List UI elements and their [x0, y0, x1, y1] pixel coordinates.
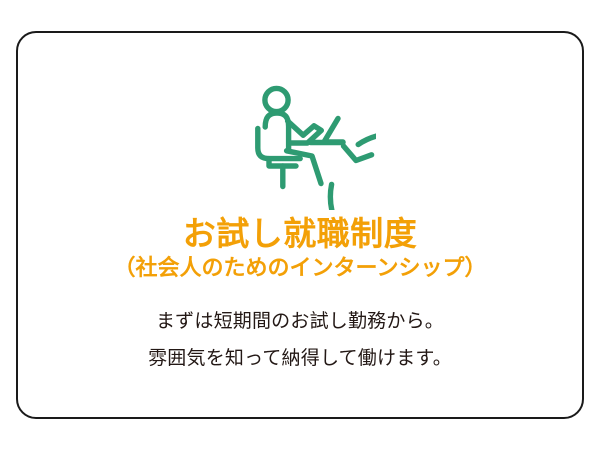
description-line-2: 雰囲気を知って納得して働けます。 [18, 340, 582, 377]
page-title: お試し就職制度 [18, 216, 582, 253]
page-subtitle: （社会人のためのインターンシップ） [18, 255, 582, 281]
person-arm-shape [288, 121, 322, 143]
person-torso-shape [265, 113, 288, 151]
arrow-head-shape [344, 146, 372, 161]
seated-person-working-in-circular-arrow-icon [224, 58, 376, 210]
description-line-1: まずは短期間のお試し勤務から。 [18, 303, 582, 340]
title-block: お試し就職制度 （社会人のためのインターンシップ） [18, 216, 582, 281]
person-head-shape [265, 88, 288, 111]
info-card: お試し就職制度 （社会人のためのインターンシップ） まずは短期間のお試し勤務から… [16, 31, 584, 419]
circular-arc-shape [330, 134, 376, 210]
description-text: まずは短期間のお試し勤務から。 雰囲気を知って納得して働けます。 [18, 303, 582, 377]
screenshot-canvas: お試し就職制度 （社会人のためのインターンシップ） まずは短期間のお試し勤務から… [0, 0, 600, 450]
desk-laptop-shape [324, 119, 343, 143]
